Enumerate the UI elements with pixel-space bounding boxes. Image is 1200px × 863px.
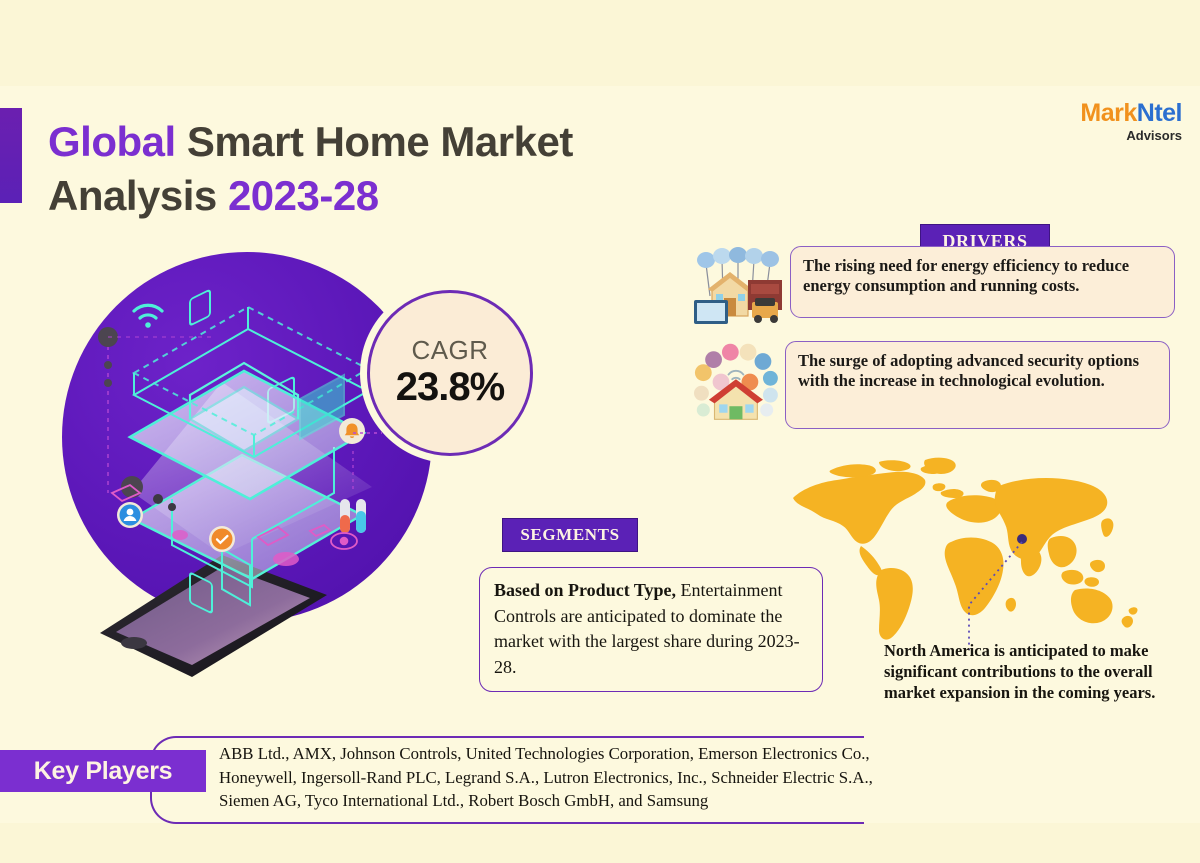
segments-text-box: Based on Product Type, Entertainment Con…: [479, 567, 823, 692]
smart-home-balloons-icon: [690, 246, 790, 328]
key-players-tag: Key Players: [0, 750, 206, 792]
cagr-label: CAGR: [411, 336, 488, 364]
page-title: Global Smart Home Market Analysis 2023-2…: [48, 118, 688, 220]
driver-item-2: The surge of adopting advanced security …: [685, 341, 1170, 429]
brand-logo: MarkNtel Advisors: [1080, 100, 1182, 143]
driver-item-1: The rising need for energy efficiency to…: [690, 246, 1175, 328]
segments-heading-label: SEGMENTS: [520, 525, 619, 545]
title-rest: Smart Home Market: [176, 118, 573, 165]
smart-home-illustration: CAGR 23.8%: [62, 252, 482, 672]
driver-text-1: The rising need for energy efficiency to…: [790, 246, 1175, 318]
segments-lead: Based on Product Type,: [494, 580, 676, 600]
title-analysis: Analysis: [48, 172, 228, 219]
key-players-tag-label: Key Players: [34, 757, 172, 786]
title-highlight: Global: [48, 118, 176, 165]
logo-ntel-text: Ntel: [1137, 99, 1182, 127]
title-line-2: Analysis 2023-28: [48, 172, 688, 220]
cagr-value: 23.8%: [396, 364, 504, 410]
cagr-badge: CAGR 23.8%: [367, 290, 533, 456]
world-map-icon: [775, 450, 1175, 650]
connected-home-apps-icon: [685, 341, 785, 423]
infographic-canvas: Global Smart Home Market Analysis 2023-2…: [0, 0, 1200, 863]
driver-text-2: The surge of adopting advanced security …: [785, 341, 1170, 429]
bottom-band: [0, 823, 1200, 863]
region-note: North America is anticipated to make sig…: [884, 640, 1174, 703]
logo-subtitle: Advisors: [1080, 128, 1182, 143]
logo-wordmark: MarkNtel: [1080, 100, 1182, 127]
title-years: 2023-28: [228, 172, 379, 219]
world-map-block: [775, 450, 1175, 650]
title-accent-bar: [0, 108, 22, 203]
segments-heading: SEGMENTS: [502, 518, 638, 552]
logo-mark-text: Mark: [1080, 99, 1136, 127]
key-players-list: ABB Ltd., AMX, Johnson Controls, United …: [219, 742, 909, 813]
top-band: [0, 0, 1200, 86]
